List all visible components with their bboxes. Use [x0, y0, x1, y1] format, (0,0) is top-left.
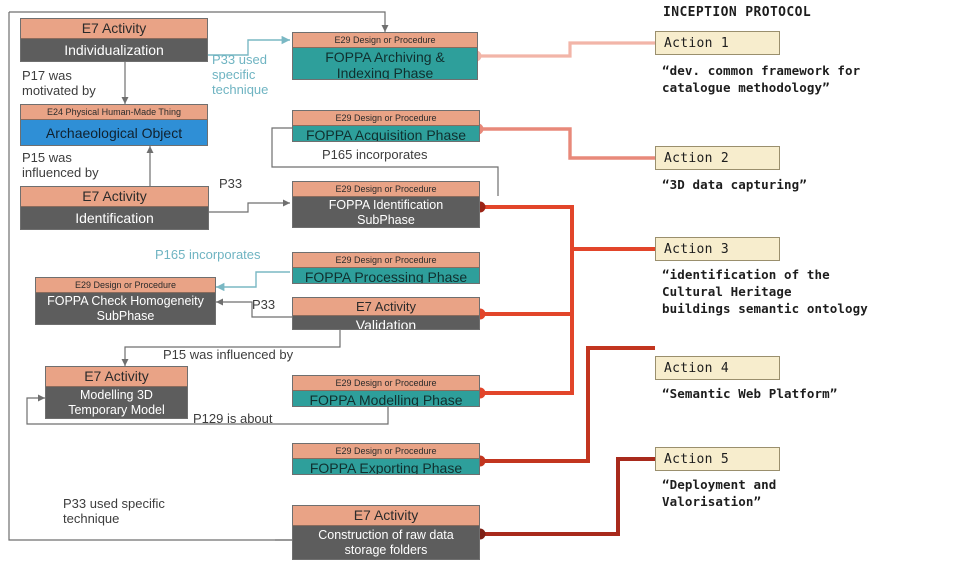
- action-box-3[interactable]: Action 3: [655, 237, 780, 261]
- node-body: Modelling 3D Temporary Model: [46, 387, 187, 419]
- edge-label-p165-incorporates-acq: P165 incorporates: [322, 147, 428, 162]
- node-body: FOPPA Modelling Phase: [293, 391, 479, 407]
- node-identification-subphase[interactable]: E29 Design or Procedure FOPPA Identifica…: [292, 181, 480, 228]
- node-header: E7 Activity: [21, 187, 208, 207]
- node-header: E7 Activity: [21, 19, 207, 39]
- node-body: Archaeological Object: [21, 120, 207, 145]
- edge-p165-incorporates-proc: [216, 272, 290, 287]
- node-header: E29 Design or Procedure: [36, 278, 215, 293]
- node-header: E7 Activity: [293, 506, 479, 526]
- node-body: FOPPA Identification SubPhase: [293, 197, 479, 228]
- edge-label-p17-motivated: P17 was motivated by: [22, 68, 96, 98]
- node-modelling-3d[interactable]: E7 Activity Modelling 3D Temporary Model: [45, 366, 188, 419]
- node-body: Individualization: [21, 39, 207, 61]
- action-description-4: “Semantic Web Platform”: [662, 385, 952, 402]
- edge-label-p15-influenced-upper: P15 was influenced by: [22, 150, 99, 180]
- edge-label-p33-validation: P33: [252, 297, 275, 312]
- action-box-5[interactable]: Action 5: [655, 447, 780, 471]
- node-archiving-indexing[interactable]: E29 Design or Procedure FOPPA Archiving …: [292, 32, 478, 80]
- node-header: E29 Design or Procedure: [293, 376, 479, 391]
- edge-p33-identification: [209, 203, 290, 212]
- action-description-5: “Deployment and Valorisation”: [662, 476, 952, 510]
- node-body: FOPPA Processing Phase: [293, 268, 479, 284]
- node-raw-data-folders[interactable]: E7 Activity Construction of raw data sto…: [292, 505, 480, 560]
- node-body: Validation: [293, 316, 479, 330]
- diagram-canvas: E7 Activity Individualization E24 Physic…: [0, 0, 960, 566]
- node-body: Construction of raw data storage folders: [293, 526, 479, 559]
- action-box-2[interactable]: Action 2: [655, 146, 780, 170]
- node-header: E29 Design or Procedure: [293, 444, 479, 459]
- node-validation[interactable]: E7 Activity Validation: [292, 297, 480, 330]
- link-action-4: [482, 348, 655, 461]
- node-acquisition[interactable]: E29 Design or Procedure FOPPA Acquisitio…: [292, 110, 480, 142]
- action-box-4[interactable]: Action 4: [655, 356, 780, 380]
- node-header: E29 Design or Procedure: [293, 33, 477, 48]
- node-body: Identification: [21, 207, 208, 229]
- node-check-homogeneity[interactable]: E29 Design or Procedure FOPPA Check Homo…: [35, 277, 216, 325]
- node-header: E29 Design or Procedure: [293, 253, 479, 268]
- edge-label-p33-used-technique-2: P33 used specific technique: [63, 496, 165, 526]
- edge-label-p33-identification: P33: [219, 176, 242, 191]
- link-action-1: [478, 43, 655, 56]
- link-action-2: [480, 129, 655, 158]
- edge-label-p15-influenced-lower: P15 was influenced by: [163, 347, 293, 362]
- action-box-1[interactable]: Action 1: [655, 31, 780, 55]
- node-body: FOPPA Exporting Phase: [293, 459, 479, 475]
- edge-label-p33-used-technique: P33 used specific technique: [212, 52, 268, 97]
- edge-label-p129-is-about: P129 is about: [193, 411, 273, 426]
- node-modelling-phase[interactable]: E29 Design or Procedure FOPPA Modelling …: [292, 375, 480, 407]
- node-body: FOPPA Acquisition Phase: [293, 126, 479, 142]
- node-processing[interactable]: E29 Design or Procedure FOPPA Processing…: [292, 252, 480, 284]
- link-action-5: [482, 459, 655, 534]
- protocol-title: INCEPTION PROTOCOL: [663, 5, 811, 20]
- action-description-3: “identification of the Cultural Heritage…: [662, 266, 957, 317]
- action-description-1: “dev. common framework for catalogue met…: [662, 62, 952, 96]
- node-header: E7 Activity: [46, 367, 187, 387]
- edge-label-p165-incorporates-proc: P165 incorporates: [155, 247, 261, 262]
- node-header: E29 Design or Procedure: [293, 182, 479, 197]
- node-header: E7 Activity: [293, 298, 479, 316]
- link-action-3: [482, 207, 655, 393]
- node-individualization[interactable]: E7 Activity Individualization: [20, 18, 208, 62]
- node-body: FOPPA Check Homogeneity SubPhase: [36, 293, 215, 325]
- node-body: FOPPA Archiving & Indexing Phase: [293, 48, 477, 80]
- node-header: E24 Physical Human-Made Thing: [21, 105, 207, 120]
- node-exporting[interactable]: E29 Design or Procedure FOPPA Exporting …: [292, 443, 480, 475]
- action-description-2: “3D data capturing”: [662, 176, 952, 193]
- node-archaeological-object[interactable]: E24 Physical Human-Made Thing Archaeolog…: [20, 104, 208, 146]
- node-header: E29 Design or Procedure: [293, 111, 479, 126]
- node-identification[interactable]: E7 Activity Identification: [20, 186, 209, 230]
